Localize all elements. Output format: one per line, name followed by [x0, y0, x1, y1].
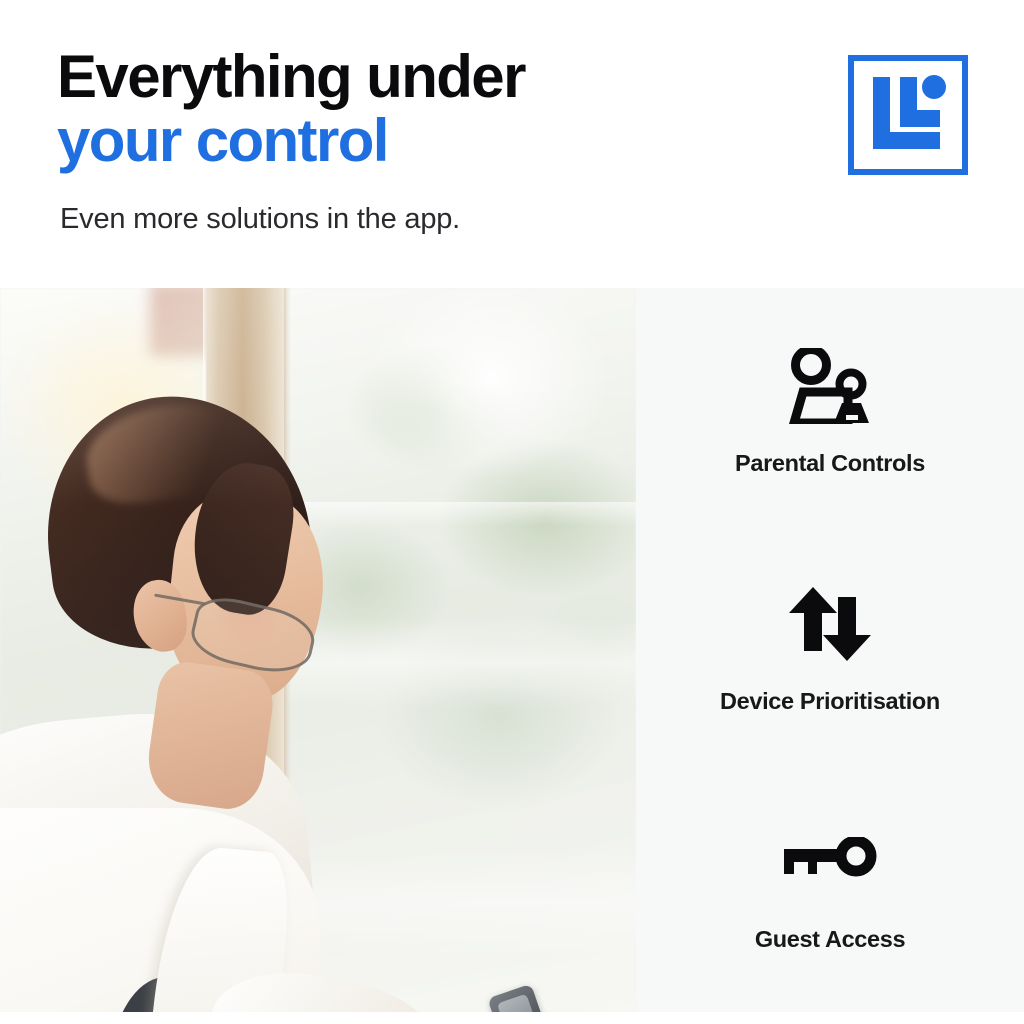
subheadline: Even more solutions in the app. [60, 203, 460, 236]
device-prioritisation-arrows-icon [636, 578, 1024, 670]
page-title: Everything under your control [57, 45, 737, 173]
feature-guest-access[interactable]: Guest Access [636, 816, 1024, 953]
feature-label: Device Prioritisation [636, 688, 1024, 715]
feature-label: Guest Access [636, 926, 1024, 953]
hero-photo [0, 288, 636, 1012]
feature-panel: Parental Controls Device Prioritisation [636, 288, 1024, 1013]
promo-poster: Everything under your control Even more … [0, 0, 1024, 1024]
headline-line-1: Everything under [57, 43, 525, 110]
bottom-white-strip [0, 1012, 1024, 1024]
parental-controls-icon [636, 340, 1024, 432]
feature-label: Parental Controls [636, 450, 1024, 477]
feature-device-prioritisation[interactable]: Device Prioritisation [636, 578, 1024, 715]
header-band: Everything under your control Even more … [0, 0, 1024, 288]
headline-line-2: your control [57, 109, 737, 173]
brand-logo[interactable] [848, 55, 968, 175]
feature-parental-controls[interactable]: Parental Controls [636, 340, 1024, 477]
guest-access-key-icon [636, 816, 1024, 908]
brand-logo-square-l-dot-icon [848, 55, 968, 175]
photo-color-grade [0, 288, 636, 1012]
